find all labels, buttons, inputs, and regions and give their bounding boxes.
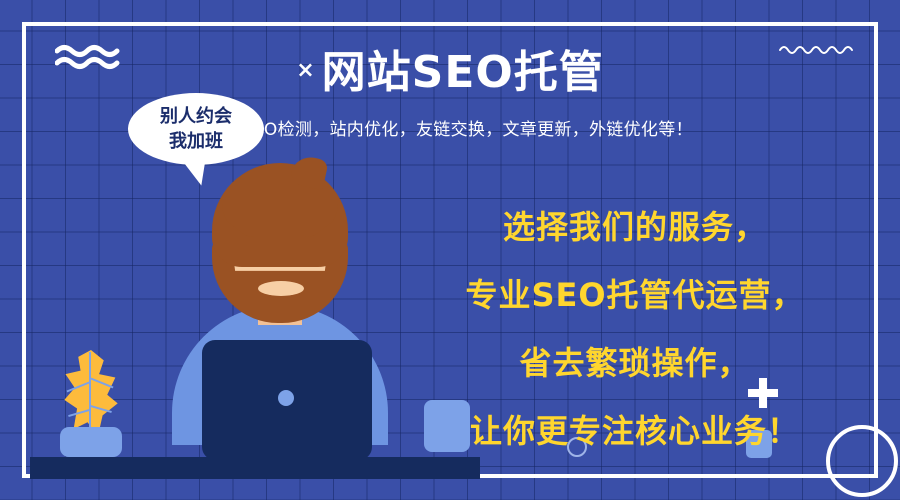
slogan-line-1: 选择我们的服务， <box>400 193 870 261</box>
page-title: ×网站SEO托管 <box>0 48 900 99</box>
laptop-logo-dot <box>278 390 294 406</box>
plant-pot <box>60 427 122 457</box>
slogan-line-4: 让你更专注核心业务！ <box>400 397 870 465</box>
person-mouth <box>258 281 304 296</box>
speech-bubble-line-2: 我加班 <box>128 129 264 154</box>
slogan-line-3: 省去繁琐操作， <box>400 329 870 397</box>
title-text: 网站SEO托管 <box>322 47 604 98</box>
plant-vein-main <box>89 352 91 434</box>
seo-promo-banner: ×网站SEO托管 含：SEO检测，站内优化，友链交换，文章更新，外链优化等！ 选… <box>0 0 900 500</box>
title-cross-mark: × <box>296 58 315 83</box>
slogan-block: 选择我们的服务， 专业SEO托管代运营， 省去繁琐操作， 让你更专注核心业务！ <box>400 193 870 465</box>
speech-bubble-line-1: 别人约会 <box>128 104 264 129</box>
slogan-line-2: 专业SEO托管代运营， <box>400 261 870 329</box>
